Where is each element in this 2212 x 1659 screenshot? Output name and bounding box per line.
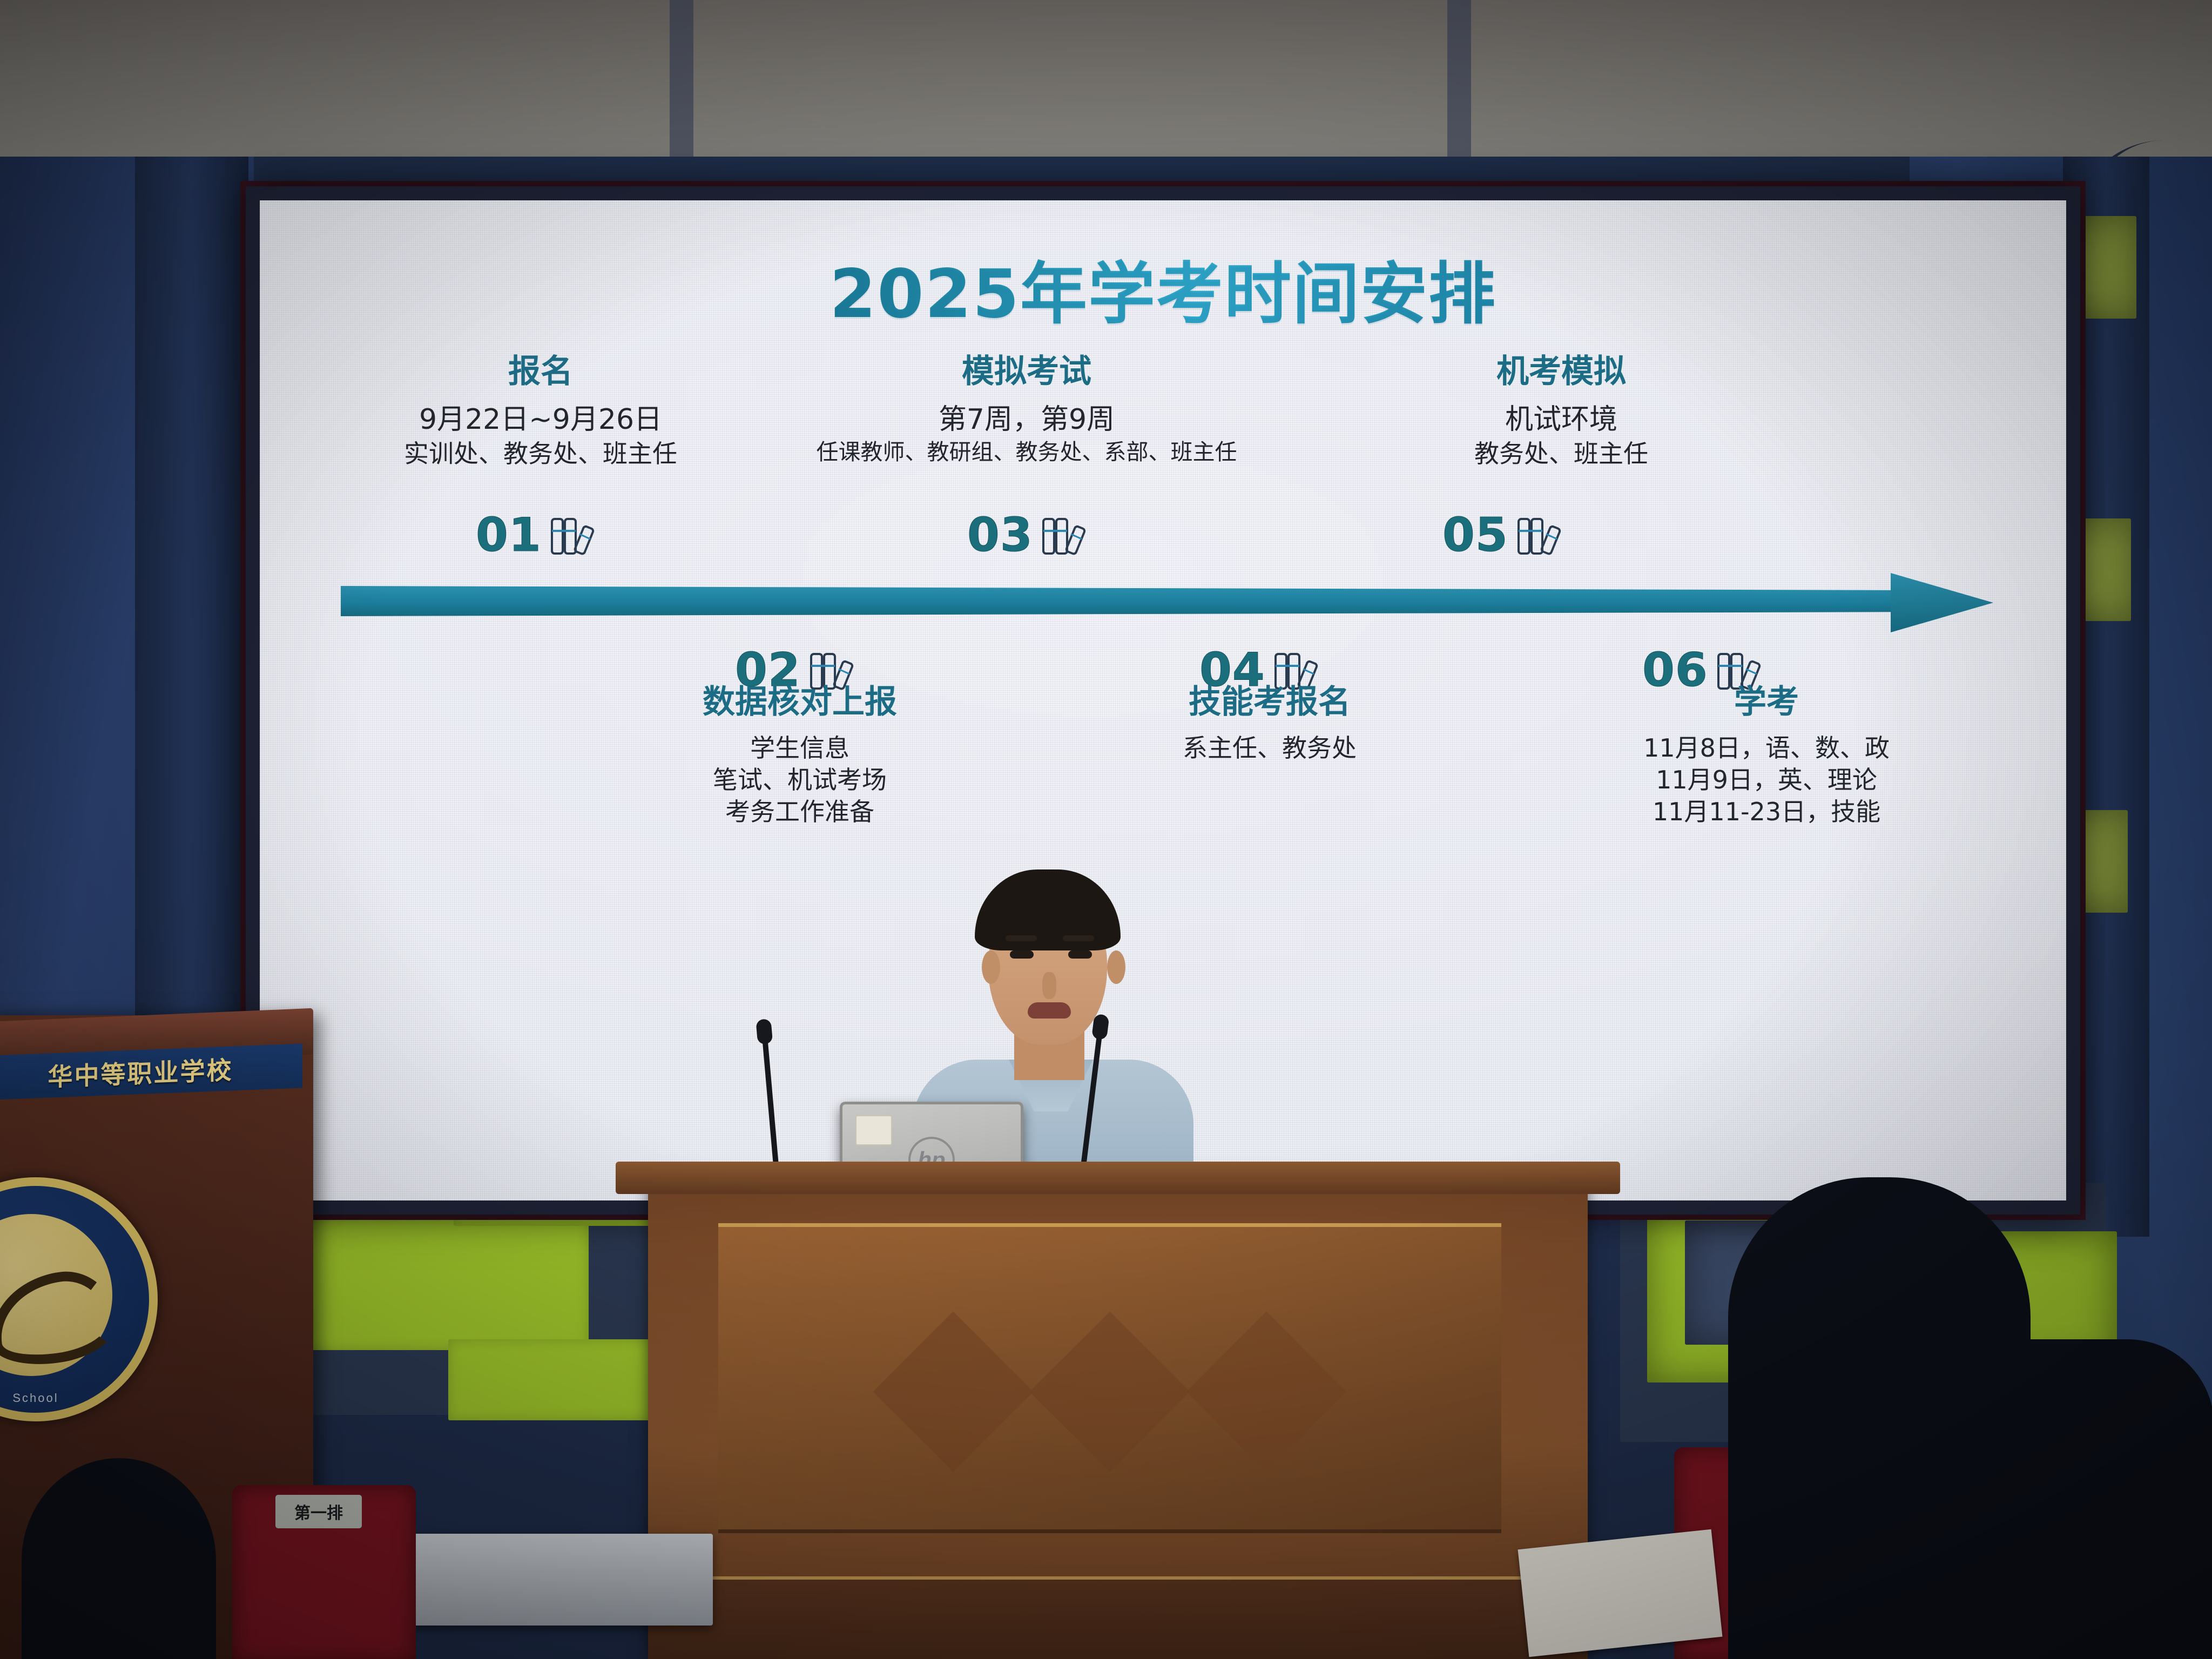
milestone-04: 技能考报名 系主任、教务处 bbox=[1064, 676, 1475, 764]
milestone-06-heading: 学考 bbox=[1523, 676, 2009, 723]
desk-top-surface bbox=[616, 1162, 1620, 1194]
milestone-05-line-1: 机试环境 bbox=[1351, 402, 1772, 438]
marker-01-number: 01 bbox=[476, 508, 542, 562]
milestone-05-line-2: 教务处、班主任 bbox=[1351, 438, 1772, 470]
milestone-03-heading: 模拟考试 bbox=[746, 345, 1307, 392]
milestone-02-line-1: 学生信息 bbox=[584, 732, 1016, 764]
milestone-03-line-2: 任课教师、教研组、教务处、系部、班主任 bbox=[746, 438, 1307, 466]
milestone-01-line-1: 9月22日~9月26日 bbox=[330, 402, 751, 438]
front-chair[interactable]: 第一排 bbox=[232, 1485, 416, 1659]
milestone-03-line-1: 第7周，第9周 bbox=[746, 402, 1307, 438]
marker-05-number: 05 bbox=[1442, 508, 1508, 562]
school-emblem-swoosh-icon bbox=[0, 1265, 122, 1371]
conference-room-photo: 2025年学考时间安排 报名 9月22日~9月26日 实训处、教务处、班主任 模… bbox=[0, 0, 2212, 1659]
ceiling-beam bbox=[670, 0, 693, 162]
milestone-02-line-2: 笔试、机试考场 bbox=[584, 764, 1016, 796]
presenter-eye bbox=[1010, 950, 1034, 959]
school-emblem-inner bbox=[0, 1214, 112, 1376]
timeline-arrow-bar bbox=[341, 586, 1896, 616]
audience-silhouette-left bbox=[22, 1458, 216, 1659]
marker-03-number: 03 bbox=[967, 508, 1033, 562]
presenter-eyebrow bbox=[1063, 935, 1094, 941]
presenter-eye bbox=[1068, 950, 1092, 959]
milestone-02-heading: 数据核对上报 bbox=[584, 676, 1016, 723]
desk-diamond-inlay bbox=[1030, 1312, 1190, 1472]
desk-base bbox=[648, 1576, 1588, 1659]
milestone-03: 模拟考试 第7周，第9周 任课教师、教研组、教务处、系部、班主任 bbox=[746, 345, 1307, 466]
audience-paper bbox=[1518, 1529, 1723, 1657]
school-emblem: School bbox=[0, 1177, 158, 1421]
presenter-eyebrow bbox=[1006, 935, 1037, 941]
milestone-02: 数据核对上报 学生信息 笔试、机试考场 考务工作准备 bbox=[584, 676, 1016, 828]
milestone-04-line-1: 系主任、教务处 bbox=[1064, 732, 1475, 764]
marker-03: 03 bbox=[967, 508, 1087, 562]
milestone-01-heading: 报名 bbox=[330, 345, 751, 392]
books-icon bbox=[1042, 515, 1087, 556]
milestone-01: 报名 9月22日~9月26日 实训处、教务处、班主任 bbox=[330, 345, 751, 469]
milestone-05: 机考模拟 机试环境 教务处、班主任 bbox=[1351, 345, 1772, 469]
audience-silhouette-far-right bbox=[1923, 1339, 2212, 1659]
milestone-05-heading: 机考模拟 bbox=[1351, 345, 1772, 392]
presenter-nose bbox=[1042, 972, 1056, 999]
presenter-mouth bbox=[1028, 1002, 1071, 1019]
books-icon bbox=[1517, 515, 1562, 556]
speaker-desk bbox=[648, 1180, 1588, 1659]
milestone-06-line-1: 11月8日，语、数、政 bbox=[1523, 732, 2009, 764]
front-table bbox=[389, 1534, 713, 1626]
milestone-06: 学考 11月8日，语、数、政 11月9日，英、理论 11月11-23日，技能 bbox=[1523, 676, 2009, 828]
presenter-hair bbox=[975, 869, 1121, 950]
laptop-sticker bbox=[855, 1115, 892, 1145]
timeline-arrow-head bbox=[1891, 573, 1993, 632]
desk-diamond-inlay bbox=[873, 1312, 1034, 1472]
ceiling bbox=[0, 0, 2212, 162]
seat-row-sign: 第一排 bbox=[275, 1495, 362, 1528]
timeline-arrow bbox=[341, 573, 1993, 632]
slide-title: 2025年学考时间安排 bbox=[260, 239, 2066, 336]
desk-diamond-inlay bbox=[1186, 1312, 1347, 1472]
marker-05: 05 bbox=[1442, 508, 1562, 562]
milestone-04-heading: 技能考报名 bbox=[1064, 676, 1475, 723]
desk-front-panel bbox=[718, 1223, 1501, 1533]
milestone-06-line-3: 11月11-23日，技能 bbox=[1523, 796, 2009, 828]
books-icon bbox=[550, 515, 596, 556]
milestone-01-line-2: 实训处、教务处、班主任 bbox=[330, 438, 751, 470]
wall-block bbox=[308, 1215, 589, 1350]
milestone-02-line-3: 考务工作准备 bbox=[584, 796, 1016, 828]
microphone-head bbox=[756, 1019, 773, 1044]
ceiling-beam bbox=[1447, 0, 1471, 162]
wall-block bbox=[448, 1339, 653, 1420]
school-emblem-english: School bbox=[12, 1391, 58, 1405]
marker-01: 01 bbox=[476, 508, 596, 562]
milestone-06-line-2: 11月9日，英、理论 bbox=[1523, 764, 2009, 796]
presenter-ear bbox=[982, 950, 1000, 984]
presenter-ear bbox=[1107, 950, 1125, 984]
